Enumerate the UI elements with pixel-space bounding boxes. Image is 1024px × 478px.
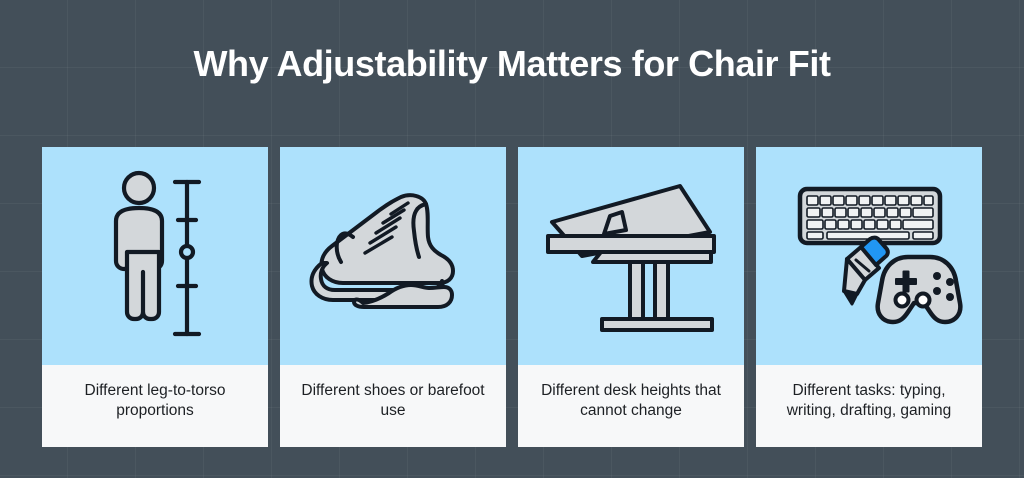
card-shoes-barefoot: Different shoes or barefoot use [280,147,506,447]
card-caption-3: Different desk heights that cannot chang… [518,365,744,447]
card-caption-1: Different leg-to-torso proportions [42,365,268,447]
person-legs [127,252,159,319]
page-title: Why Adjustability Matters for Chair Fit [0,44,1024,84]
card-leg-to-torso: Different leg-to-torso proportions [42,147,268,447]
desk-surface-bar [548,236,714,252]
keyboard [800,189,940,243]
controller-button-right [917,294,930,307]
card-art-2 [280,147,506,365]
game-controller [878,257,961,322]
card-art-4 [756,147,982,365]
card-tasks: Different tasks: typing, writing, drafti… [756,147,982,447]
ruler-marker [181,246,193,258]
desk-apron [593,252,711,262]
drafting-desk-icon [544,174,719,339]
desk-base [602,319,712,330]
card-desk-heights: Different desk heights that cannot chang… [518,147,744,447]
card-caption-2: Different shoes or barefoot use [280,365,506,447]
card-grid: Different leg-to-torso proportions [42,147,982,447]
tasks-devices-icon [774,181,964,331]
shoe-and-barefoot-icon [308,181,478,331]
card-art-1 [42,147,268,365]
person-height-measure-icon [95,166,215,346]
card-art-3 [518,147,744,365]
controller-button-left [896,294,909,307]
person-head [124,173,154,203]
card-caption-4: Different tasks: typing, writing, drafti… [756,365,982,447]
infographic-root: Why Adjustability Matters for Chair Fit [0,0,1024,478]
pen-nib [844,291,857,304]
